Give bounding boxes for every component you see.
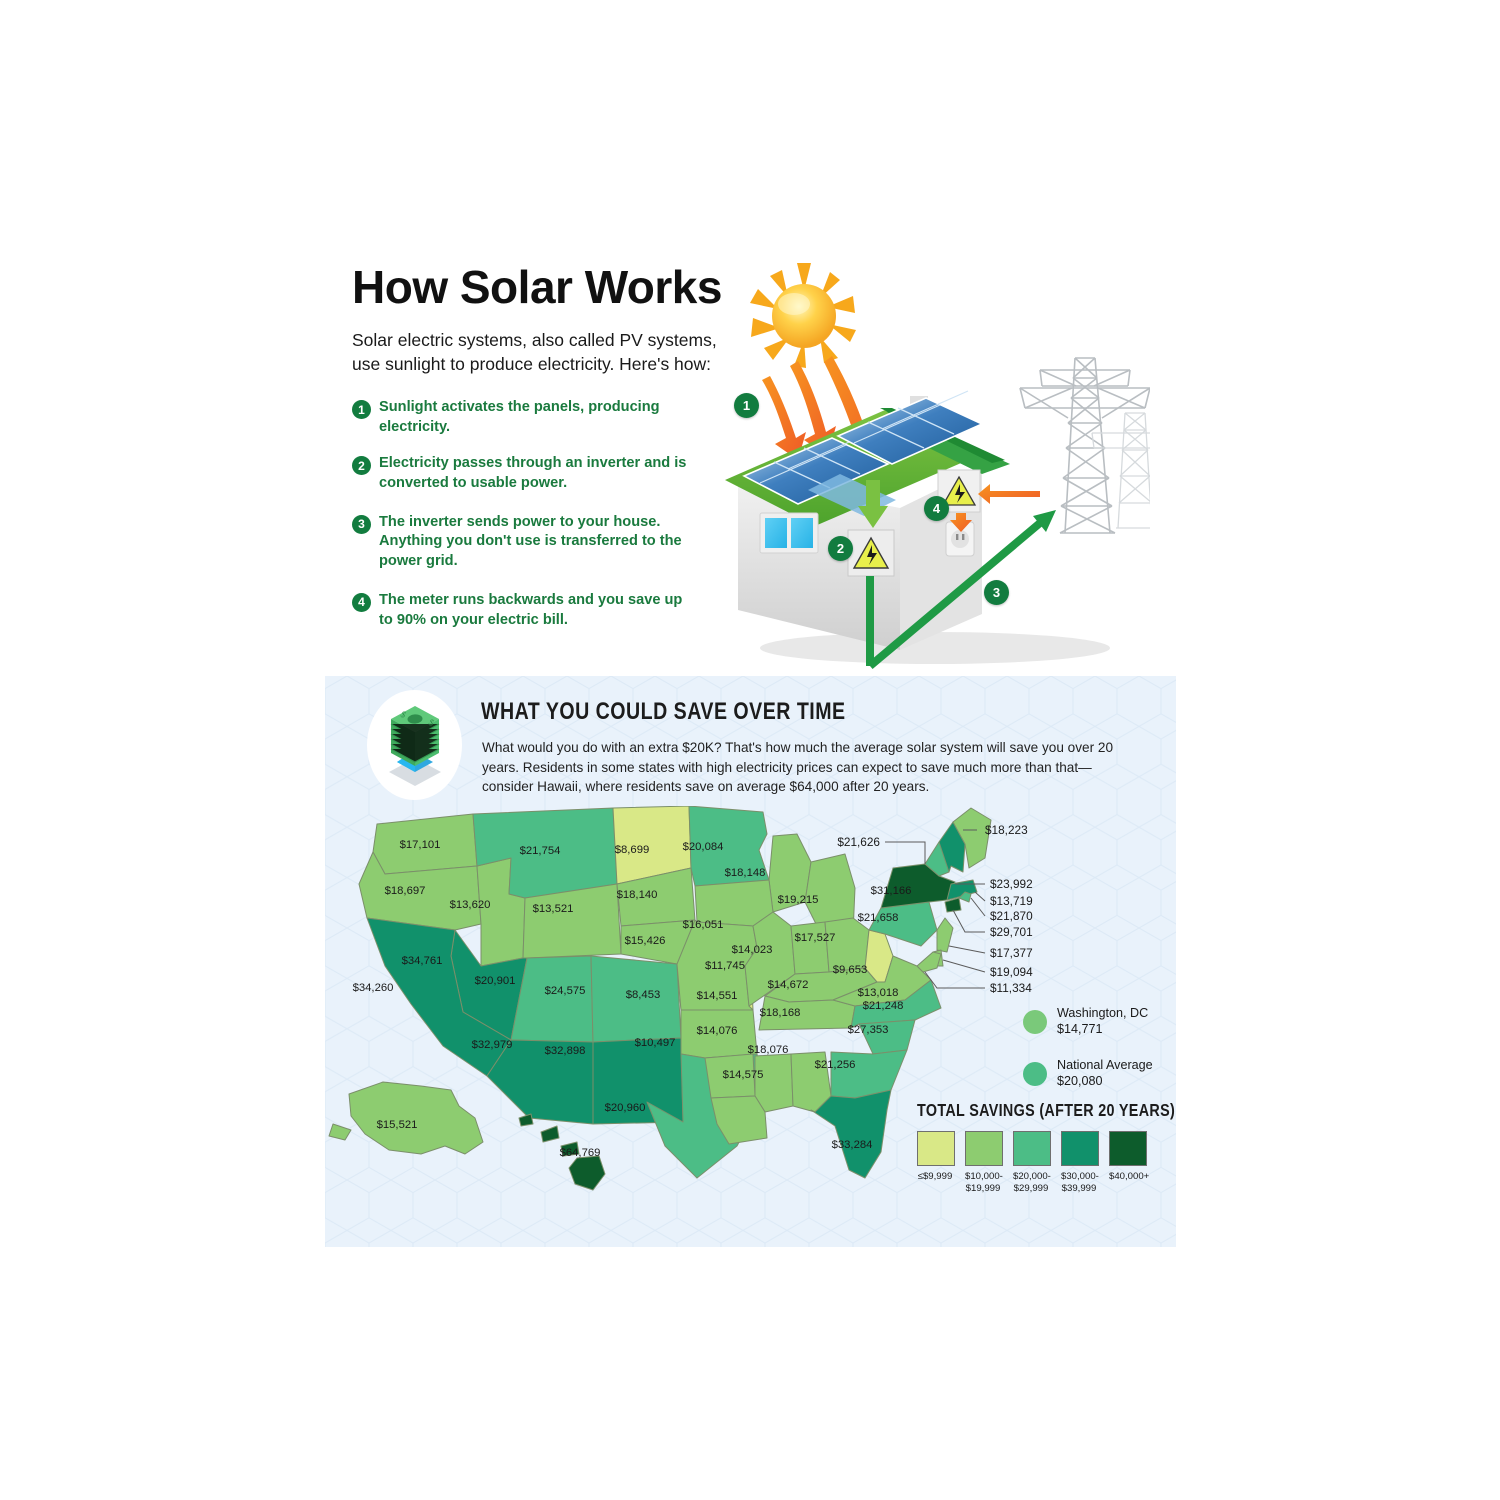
- state-label-UT: $20,901: [475, 975, 516, 987]
- state-GA: [831, 1050, 907, 1098]
- washington-dc-dot: [1023, 1010, 1047, 1034]
- step-item: 1 Sunlight activates the panels, produci…: [352, 398, 697, 437]
- state-AK: [349, 1082, 483, 1154]
- state-label-MT: $21,754: [520, 845, 561, 857]
- legend-title: TOTAL SAVINGS (AFTER 20 YEARS): [917, 1100, 1122, 1121]
- arrow-grid-to-house: [978, 484, 1040, 504]
- state-AK-aleutian: [329, 1124, 351, 1140]
- how-solar-works-illustration: 1 2 3 4: [720, 258, 1150, 678]
- legend-swatch-label-4: $30,000- $39,999: [1061, 1171, 1097, 1194]
- callout-label-ME: $18,223: [985, 823, 1028, 837]
- legend-item: $20,000- $29,999: [1013, 1131, 1049, 1194]
- step-item: 2 Electricity passes through an inverter…: [352, 454, 697, 493]
- illustration-badge-1: 1: [734, 393, 759, 418]
- callout-label-RI: $21,870: [990, 909, 1033, 923]
- sun-icon: [750, 263, 856, 368]
- state-label-NC: $21,248: [863, 1000, 904, 1012]
- state-label-SD: $18,140: [617, 889, 658, 901]
- inverter-icon: [848, 530, 894, 576]
- state-HI-1: [519, 1114, 533, 1126]
- legend-item: $10,000- $19,999: [965, 1131, 1001, 1194]
- state-label-OK: $10,497: [635, 1037, 676, 1049]
- state-label-IA: $16,051: [683, 919, 724, 931]
- legend-swatch-3: [1013, 1131, 1051, 1166]
- callout-label-MA: $13,719: [990, 894, 1033, 908]
- panel-description: What would you do with an extra $20K? Th…: [482, 738, 1127, 797]
- state-label-ND: $8,699: [615, 844, 650, 856]
- state-HI-4: [569, 1156, 605, 1190]
- callout-label-VT: $21,626: [837, 835, 880, 849]
- state-label-PA: $21,658: [858, 912, 899, 924]
- page-subtitle: Solar electric systems, also called PV s…: [352, 328, 722, 376]
- legend-swatch-label-2: $10,000- $19,999: [965, 1171, 1001, 1194]
- legend-swatch-label-5: $40,000+: [1109, 1171, 1145, 1183]
- state-label-TN: $18,168: [760, 1007, 801, 1019]
- legend-swatch-label-1: ≤$9,999: [917, 1171, 953, 1183]
- legend-marker-national-average: National Average $20,080: [1023, 1058, 1153, 1089]
- state-MD: [917, 952, 941, 972]
- state-label-AK: $15,521: [377, 1119, 418, 1131]
- state-label-GA: $21,256: [815, 1059, 856, 1071]
- legend-swatch-2: [965, 1131, 1003, 1166]
- legend-item: $40,000+: [1109, 1131, 1145, 1194]
- illustration-badge-4: 4: [924, 496, 949, 521]
- step-number-badge: 1: [352, 400, 371, 419]
- state-IN: [791, 922, 829, 974]
- state-label-TX: $20,960: [605, 1102, 646, 1114]
- callout-label-CT: $29,701: [990, 925, 1033, 939]
- legend-swatch-1: [917, 1131, 955, 1166]
- state-label-VA: $13,018: [858, 987, 899, 999]
- washington-dc-name: Washington, DC: [1057, 1006, 1148, 1022]
- power-tower-icon: [1020, 358, 1150, 533]
- washington-dc-value: $14,771: [1057, 1022, 1148, 1038]
- state-label-IN: $11,745: [705, 960, 745, 972]
- savings-panel: $ $ WHAT YOU COULD SAVE OVER TIME What w…: [325, 676, 1176, 1247]
- state-label-OR: $18,697: [385, 885, 426, 897]
- state-label-MI: $19,215: [778, 894, 819, 906]
- page-title: How Solar Works: [352, 264, 722, 310]
- state-label-FL: $33,284: [832, 1139, 873, 1151]
- step-number-badge: 3: [352, 515, 371, 534]
- state-NJ: [937, 918, 953, 952]
- state-HI-2: [541, 1126, 559, 1142]
- step-label: Sunlight activates the panels, producing…: [379, 398, 697, 437]
- state-label-KY: $14,672: [768, 979, 809, 991]
- window-icon: [760, 513, 818, 553]
- state-label-AZ: $32,979: [472, 1039, 513, 1051]
- callout-label-MD: $11,334: [990, 981, 1032, 995]
- legend-item: ≤$9,999: [917, 1131, 953, 1194]
- state-label-MS: $18,076: [748, 1044, 789, 1056]
- step-label: The inverter sends power to your house. …: [379, 513, 697, 572]
- state-label-CO: $24,575: [545, 985, 586, 997]
- state-label-OH: $17,527: [795, 932, 836, 944]
- national-average-dot: [1023, 1062, 1047, 1086]
- step-number-badge: 4: [352, 593, 371, 612]
- state-label-AR: $14,076: [697, 1025, 738, 1037]
- state-label-WA: $17,101: [400, 839, 441, 851]
- legend-marker-washington-dc: Washington, DC $14,771: [1023, 1006, 1148, 1037]
- legend-swatch-4: [1061, 1131, 1099, 1166]
- step-item: 3 The inverter sends power to your house…: [352, 513, 697, 572]
- panel-title: WHAT YOU COULD SAVE OVER TIME: [481, 698, 846, 726]
- national-average-value: $20,080: [1057, 1074, 1153, 1090]
- legend-swatches: ≤$9,999 $10,000- $19,999 $20,000- $29,99…: [917, 1131, 1167, 1194]
- state-label-ID: $13,620: [450, 899, 491, 911]
- illustration-badge-2: 2: [828, 536, 853, 561]
- state-label-SC: $27,353: [848, 1024, 889, 1036]
- state-label-NM: $32,898: [545, 1045, 586, 1057]
- state-MS: [755, 1054, 793, 1112]
- infographic-root: How Solar Works Solar electric systems, …: [0, 0, 1500, 1500]
- legend-swatch-5: [1109, 1131, 1147, 1166]
- money-stack-icon: $ $: [383, 700, 447, 786]
- steps-list: 1 Sunlight activates the panels, produci…: [352, 398, 697, 647]
- washington-dc-text: Washington, DC $14,771: [1057, 1006, 1148, 1037]
- state-label-KS: $8,453: [626, 989, 661, 1001]
- state-label-NY: $31,166: [871, 885, 912, 897]
- state-label-CA: $34,260: [353, 982, 394, 994]
- legend-swatch-label-3: $20,000- $29,999: [1013, 1171, 1049, 1194]
- national-average-name: National Average: [1057, 1058, 1153, 1074]
- map-legend: TOTAL SAVINGS (AFTER 20 YEARS) ≤$9,999 $…: [917, 1100, 1167, 1194]
- state-label-MN: $20,084: [683, 841, 724, 853]
- step-label: The meter runs backwards and you save up…: [379, 591, 697, 630]
- callout-label-NH: $23,992: [990, 877, 1033, 891]
- state-label-MO: $14,551: [697, 990, 738, 1002]
- state-label-HI: $64,769: [560, 1147, 601, 1159]
- state-label-WY: $13,521: [533, 903, 574, 915]
- step-label: Electricity passes through an inverter a…: [379, 454, 697, 493]
- state-label-WI: $18,148: [725, 867, 766, 879]
- callout-label-NJ: $17,377: [990, 946, 1033, 960]
- illustration-badge-3: 3: [984, 580, 1009, 605]
- ground-shadow: [760, 632, 1110, 664]
- state-label-IL: $14,023: [732, 944, 773, 956]
- step-item: 4 The meter runs backwards and you save …: [352, 591, 697, 630]
- national-average-text: National Average $20,080: [1057, 1058, 1153, 1089]
- legend-item: $30,000- $39,999: [1061, 1131, 1097, 1194]
- callout-label-DE: $19,094: [990, 965, 1033, 979]
- state-label-AL: $14,575: [723, 1069, 764, 1081]
- state-label-NE: $15,426: [625, 935, 666, 947]
- state-label-NV: $34,761: [402, 955, 443, 967]
- step-number-badge: 2: [352, 456, 371, 475]
- state-label-WV: $9,653: [833, 964, 868, 976]
